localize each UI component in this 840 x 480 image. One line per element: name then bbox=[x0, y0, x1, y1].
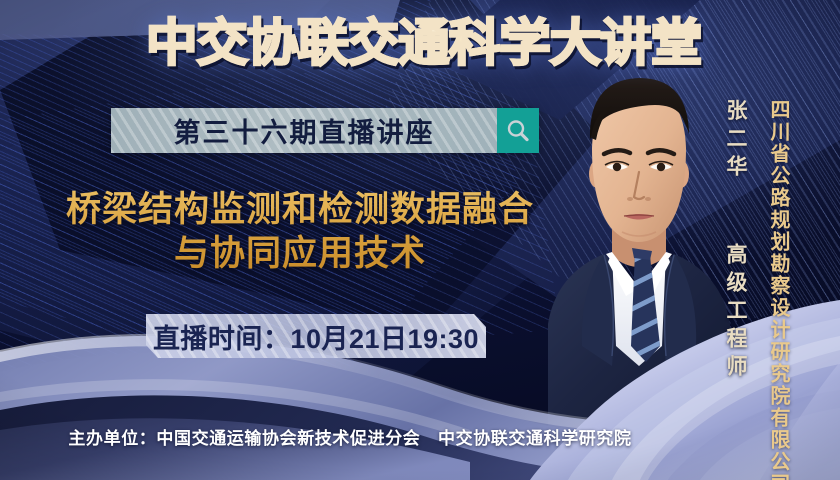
search-icon bbox=[505, 118, 531, 144]
lecture-topic-line1: 桥梁结构监测和检测数据融合 bbox=[40, 188, 560, 232]
live-stream-poster: 中交协联交通科学大讲堂 第三十六期直播讲座 桥梁结构监测和检测数据融合 与协同应… bbox=[0, 0, 840, 480]
speaker-name-and-title: 张二华 高级工程师 bbox=[720, 99, 750, 329]
broadcast-time-text: 直播时间：10月21日19:30 bbox=[153, 317, 479, 356]
speaker-organization: 四川省公路规划勘察设计研究院有限公司 bbox=[764, 99, 793, 469]
page-title: 中交协联交通科学大讲堂 bbox=[146, 12, 702, 78]
search-icon-tile[interactable] bbox=[497, 108, 539, 153]
session-banner-label: 第三十六期直播讲座 bbox=[174, 111, 435, 150]
lecture-topic-line2: 与协同应用技术 bbox=[40, 232, 560, 276]
host-organizations: 主办单位：中国交通运输协会新技术促进分会 中交协联交通科学研究院 bbox=[0, 424, 700, 449]
broadcast-time-badge: 直播时间：10月21日19:30 bbox=[146, 314, 486, 358]
session-banner-bar: 第三十六期直播讲座 bbox=[111, 108, 497, 153]
session-banner: 第三十六期直播讲座 bbox=[111, 108, 539, 153]
lecture-topic: 桥梁结构监测和检测数据融合 与协同应用技术 bbox=[40, 188, 560, 276]
